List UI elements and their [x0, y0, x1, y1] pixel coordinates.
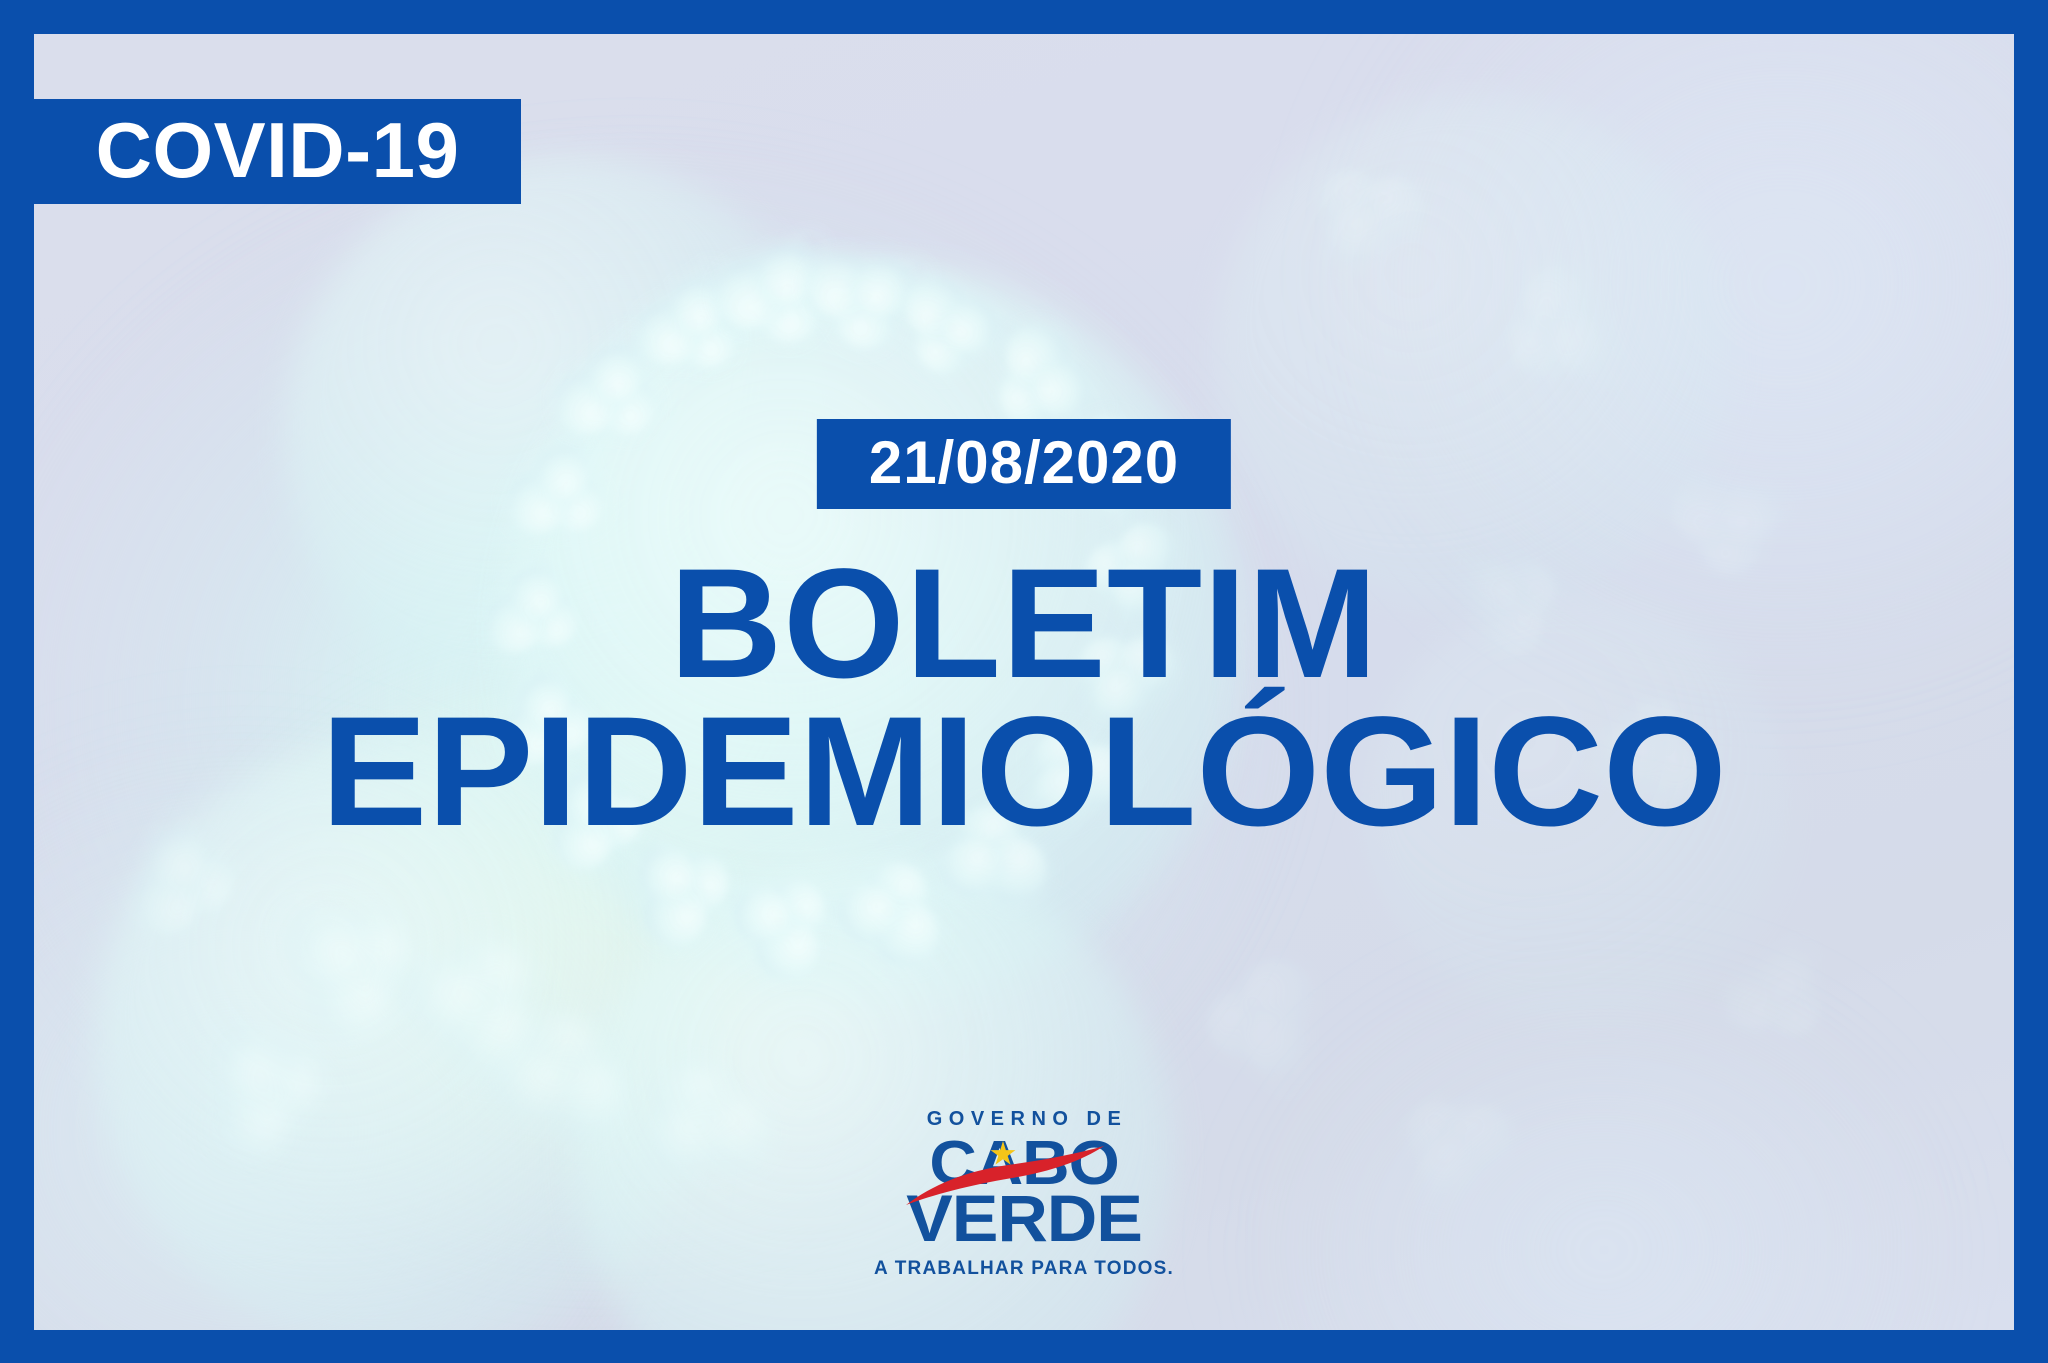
virus-spike-stem	[472, 1057, 550, 1114]
virus-spike-stem	[273, 902, 352, 968]
virus-spike-stem	[1734, 482, 1798, 535]
virus-spike-lobe-a	[1498, 298, 1586, 386]
virus-spike-lobe-a	[825, 278, 907, 360]
virus-spike-lobe-b	[445, 987, 537, 1079]
virus-spike-19	[373, 930, 542, 1089]
virus-spike-10	[813, 859, 942, 981]
virus-spike-lobe-c	[1751, 941, 1819, 1009]
virus-spike-stem	[1323, 218, 1369, 282]
virus-spike-lobe-c	[727, 881, 797, 951]
logo-word-verde: VERDE	[865, 1185, 1183, 1251]
page-title-line-1: BOLETIM	[34, 546, 2014, 702]
virus-spike-lobe-a	[864, 860, 929, 925]
virus-spike-lobe-a	[746, 269, 831, 354]
virus-spike-stem	[820, 893, 879, 926]
virus-spike-stem	[1560, 327, 1629, 384]
virus-spike-lobe-b	[201, 1063, 307, 1169]
virus-spike-stem	[605, 328, 643, 388]
virus-spike-lobe-c	[1539, 298, 1623, 382]
virus-spike-stem	[628, 1114, 700, 1182]
virus-spike-23	[603, 1046, 792, 1234]
virus-spike-30	[1193, 944, 1362, 1116]
virus-spike-lobe-b	[631, 870, 719, 958]
virus-spike-lobe-a	[238, 1032, 335, 1129]
virus-spike-lobe-c	[532, 444, 592, 504]
virus-spike-lobe-b	[870, 898, 940, 968]
virus-spike-lobe-b	[297, 944, 406, 1053]
virus-spike-lobe-a	[446, 936, 531, 1021]
virus-spike-lobe-a	[1757, 972, 1828, 1043]
virus-spike-lobe-a	[1197, 979, 1285, 1067]
virus-spike-stem	[205, 1011, 273, 1083]
poster-canvas: COVID-19 21/08/2020 BOLETIM EPIDEMIOLÓGI…	[34, 34, 2014, 1330]
virus-spike-stem	[1046, 378, 1107, 423]
virus-spike-stem	[774, 228, 829, 294]
virus-spike-lobe-c	[639, 1094, 732, 1187]
virus-spike-lobe-b	[503, 469, 571, 537]
covid-19-badge: COVID-19	[34, 99, 521, 204]
virus-spike-16	[496, 418, 614, 542]
virus-spike-lobe-b	[796, 241, 885, 330]
virus-spike-stem	[553, 430, 586, 486]
virus-spike-lobe-c	[941, 297, 998, 354]
virus-spike-21	[454, 1000, 639, 1180]
virus-spike-25	[1491, 246, 1663, 415]
virus-spike-lobe-b	[1716, 960, 1793, 1037]
virus-spike-0	[622, 243, 756, 382]
virus-spike-lobe-a	[759, 872, 833, 946]
page-title-line-2: EPIDEMIOLÓGICO	[34, 694, 2014, 850]
virus-spike-lobe-b	[746, 908, 826, 988]
background-glow-bottom-right	[1254, 970, 1954, 1330]
date-badge: 21/08/2020	[817, 419, 1231, 509]
virus-spike-lobe-c	[200, 1022, 293, 1115]
virus-spike-lobe-c	[1414, 1131, 1484, 1201]
logo-wordmark: CABO VERDE	[874, 1133, 1174, 1251]
virus-spike-stem	[717, 882, 778, 927]
virus-spike-18	[234, 869, 430, 1062]
virus-spike-31	[1388, 1088, 1527, 1232]
virus-spike-2	[792, 207, 951, 364]
virus-spike-17	[542, 313, 671, 448]
government-of-cabo-verde-logo: GOVERNO DE CABO VERDE A TRABALHAR PARA T…	[874, 1109, 1174, 1278]
virus-spike-stem	[1416, 1150, 1458, 1213]
virus-spike-stem	[1250, 1027, 1307, 1096]
virus-spike-lobe-a	[166, 844, 243, 921]
covid-19-badge-label: COVID-19	[96, 111, 460, 189]
virus-spike-lobe-b	[550, 365, 624, 439]
virus-spike-lobe-c	[663, 273, 730, 340]
virus-spike-lobe-b	[629, 295, 706, 372]
virus-spike-24	[1294, 155, 1440, 306]
virus-spike-lobe-b	[125, 859, 208, 942]
virus-spike-stem	[687, 261, 728, 321]
virus-spike-stem	[386, 968, 464, 1012]
virus-spike-lobe-a	[1312, 162, 1389, 239]
virus-spike-lobe-b	[1512, 253, 1608, 349]
virus-spike-lobe-a	[321, 901, 422, 1002]
virus-spike-lobe-b	[703, 248, 795, 340]
virus-body-3	[1214, 94, 1734, 614]
virus-spike-lobe-c	[280, 905, 376, 1001]
virus-spike-lobe-a	[545, 472, 607, 534]
virus-spike-lobe-b	[1349, 168, 1432, 251]
virus-spike-lobe-a	[649, 1052, 746, 1149]
virus-spike-lobe-c	[1322, 198, 1395, 271]
date-badge-label: 21/08/2020	[869, 429, 1179, 496]
virus-spike-lobe-c	[838, 883, 900, 945]
logo-governo-de-text: GOVERNO DE	[874, 1109, 1174, 1129]
virus-spike-lobe-b	[534, 1045, 637, 1148]
virus-spike-lobe-b	[680, 1081, 786, 1187]
virus-spike-lobe-c	[1233, 999, 1317, 1083]
virus-spike-lobe-a	[514, 1003, 608, 1097]
virus-spike-lobe-c	[490, 1041, 580, 1131]
virus-spike-lobe-c	[1027, 353, 1097, 423]
virus-spike-lobe-c	[407, 960, 488, 1041]
virus-spike-lobe-a	[914, 316, 974, 376]
virus-spike-lobe-b	[997, 317, 1077, 397]
virus-spike-lobe-a	[1401, 1095, 1474, 1168]
virus-spike-lobe-a	[593, 372, 661, 440]
virus-spike-stem	[1775, 932, 1818, 991]
virus-spike-lobe-b	[1439, 1098, 1519, 1178]
bulletin-poster: COVID-19 21/08/2020 BOLETIM EPIDEMIOLÓGI…	[0, 0, 2048, 1363]
virus-spike-11	[695, 855, 840, 995]
virus-spike-lobe-c	[582, 341, 647, 406]
virus-spike-lobe-a	[672, 304, 742, 374]
logo-tagline: A TRABALHAR PARA TODOS.	[874, 1259, 1174, 1278]
virus-spike-lobe-c	[746, 234, 827, 315]
virus-spike-stem	[960, 314, 1015, 345]
virus-spike-lobe-b	[1229, 948, 1325, 1044]
virus-spike-stem	[869, 257, 933, 310]
virus-spike-3	[903, 264, 1022, 376]
virus-spike-lobe-c	[1708, 473, 1786, 551]
virus-spike-29	[1710, 910, 1845, 1049]
virus-spike-1	[696, 195, 859, 361]
virus-spike-lobe-b	[1661, 466, 1750, 555]
virus-spike-lobe-c	[843, 248, 921, 326]
virus-spike-lobe-b	[903, 275, 968, 340]
virus-spike-20	[153, 986, 341, 1175]
